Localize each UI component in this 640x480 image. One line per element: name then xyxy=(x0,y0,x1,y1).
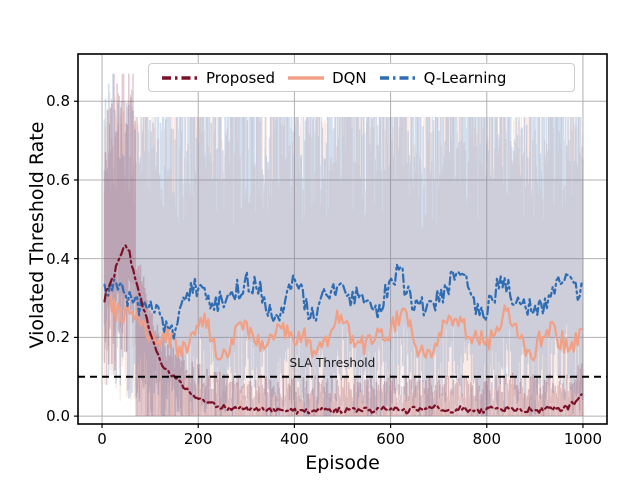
chart-figure: Violated Threshold Rate Episode 0.00.20.… xyxy=(0,0,640,480)
chart-legend: Proposed DQN Q-Learning xyxy=(148,63,575,92)
legend-entry-dqn[interactable]: DQN xyxy=(275,64,367,91)
legend-label-dqn: DQN xyxy=(332,69,367,87)
legend-entry-proposed[interactable]: Proposed xyxy=(149,64,275,91)
legend-swatch-dqn xyxy=(287,71,325,85)
legend-entry-qlearning[interactable]: Q-Learning xyxy=(367,64,507,91)
legend-label-qlearning: Q-Learning xyxy=(424,69,507,87)
legend-label-proposed: Proposed xyxy=(206,69,275,87)
legend-swatch-qlearning xyxy=(379,71,417,85)
legend-swatch-proposed xyxy=(161,71,199,85)
sla-threshold-annotation: SLA Threshold xyxy=(290,356,376,370)
